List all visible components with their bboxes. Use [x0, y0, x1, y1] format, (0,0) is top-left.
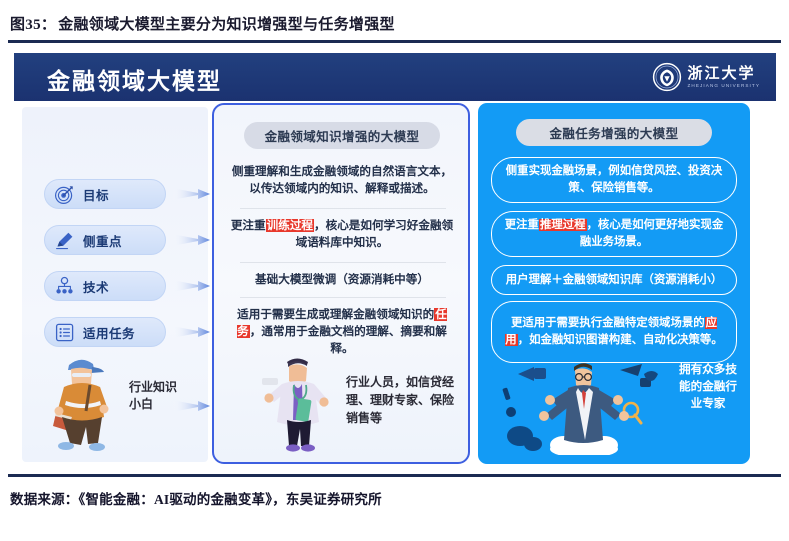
left-item-focus[interactable]: 侧重点 — [44, 225, 166, 255]
arrow-icon-2 — [172, 231, 212, 249]
figure-number: 图35： — [10, 13, 56, 34]
left-item-label: 适用任务 — [83, 323, 135, 342]
middle-block-text-post: ，核心是如何学习好金融领域语料库中知识。 — [296, 219, 454, 249]
zju-name-cn: 浙江大学 — [688, 66, 756, 81]
left-item-label: 技术 — [83, 277, 109, 296]
middle-highlight: 训练过程 — [266, 219, 314, 232]
middle-block-text: 更注重 — [231, 219, 266, 232]
middle-block-2: 更注重训练过程，核心是如何学习好金融领域语料库中知识。 — [228, 217, 456, 251]
middle-block-text-post: ，通常用于金融文档的理解、摘要和解释。 — [250, 325, 447, 355]
bottom-rule — [8, 474, 781, 477]
divider — [240, 297, 446, 298]
multi-arm-expert-illustration — [494, 350, 674, 455]
middle-block-4: 适用于需要生成或理解金融领域知识的任务，通常用于金融文档的理解、摘要和解释。 — [228, 306, 456, 357]
banner-title: 金融领域大模型 — [47, 62, 222, 96]
divider — [240, 262, 446, 263]
figure-caption: 图35： 金融领域大模型主要分为知识增强型与任务增强型 — [10, 8, 780, 38]
arrow-icon-3 — [172, 277, 212, 295]
right-block-1: 侧重实现金融场景，例如信贷风控、投资决策、保险销售等。 — [491, 157, 737, 203]
source-note: 数据来源：《智能金融：AI驱动的金融变革》，东吴证券研究所 — [10, 488, 780, 508]
right-block-text: 用户理解＋金融领域知识库（资源消耗小） — [506, 274, 722, 286]
right-block-text-post: ，如金融知识图谱构建、自动化决策等。 — [518, 334, 723, 346]
left-item-label: 目标 — [83, 185, 109, 204]
figure-caption-text: 金融领域大模型主要分为知识增强型与任务增强型 — [58, 13, 395, 34]
zju-wordmark: 浙江大学 ZHEJIANG UNIVERSITY — [688, 66, 760, 89]
right-block-3: 用户理解＋金融领域知识库（资源消耗小） — [491, 265, 737, 295]
figure-body: 目标 侧重点 — [14, 101, 776, 470]
checklist-icon — [54, 322, 75, 343]
figure-page: 图35： 金融领域大模型主要分为知识增强型与任务增强型 金融领域大模型 浙江 — [0, 0, 789, 518]
left-item-goal[interactable]: 目标 — [44, 179, 166, 209]
student-illustration — [42, 351, 122, 455]
zju-name-en: ZHEJIANG UNIVERSITY — [688, 84, 760, 89]
target-icon — [54, 184, 75, 205]
pencil-icon — [54, 230, 75, 251]
left-item-tasks[interactable]: 适用任务 — [44, 317, 166, 347]
right-column-title: 金融任务增强的大模型 — [516, 119, 712, 146]
figure-card: 金融领域大模型 浙江大学 ZHEJIANG UNIVERSITY — [14, 53, 776, 470]
middle-block-3: 基础大模型微调（资源消耗中等） — [228, 271, 456, 288]
figure-banner: 金融领域大模型 浙江大学 ZHEJIANG UNIVERSITY — [14, 53, 776, 101]
middle-persona-label: 行业人员，如信贷经理、理财专家、保险销售等 — [346, 373, 456, 427]
middle-column-title: 金融领域知识增强的大模型 — [244, 122, 440, 149]
right-column: 金融任务增强的大模型 侧重实现金融场景，例如信贷风控、投资决策、保险销售等。 更… — [478, 103, 750, 464]
right-persona-label: 拥有众多技能的金融行业专家 — [674, 361, 742, 412]
right-highlight: 推理过程 — [539, 219, 587, 231]
right-block-text: 更注重 — [505, 219, 539, 231]
right-block-text: 更适用于需要执行金融特定领域场景的 — [511, 317, 705, 329]
network-people-icon — [54, 276, 75, 297]
right-block-2: 更注重推理过程，核心是如何更好地实现金融业务场景。 — [491, 211, 737, 257]
right-block-text-post: ，核心是如何更好地实现金融业务场景。 — [580, 219, 723, 248]
right-block-text: 侧重实现金融场景，例如信贷风控、投资决策、保险销售等。 — [506, 165, 722, 194]
left-column: 目标 侧重点 — [22, 107, 208, 462]
middle-block-text: 基础大模型微调（资源消耗中等） — [255, 273, 429, 286]
middle-block-text: 侧重理解和生成金融领域的自然语言文本，以传达领域内的知识、解释或描述。 — [232, 165, 452, 195]
zju-logo: 浙江大学 ZHEJIANG UNIVERSITY — [652, 60, 760, 94]
professional-illustration — [260, 356, 338, 454]
divider — [240, 208, 446, 209]
middle-block-text: 适用于需要生成或理解金融领域知识的 — [237, 308, 434, 321]
left-item-label: 侧重点 — [83, 231, 122, 250]
middle-block-1: 侧重理解和生成金融领域的自然语言文本，以传达领域内的知识、解释或描述。 — [228, 163, 456, 197]
middle-column: 金融领域知识增强的大模型 侧重理解和生成金融领域的自然语言文本，以传达领域内的知… — [212, 103, 470, 464]
left-item-tech[interactable]: 技术 — [44, 271, 166, 301]
arrow-icon-5 — [172, 397, 212, 415]
arrow-icon-1 — [172, 185, 212, 203]
top-rule — [8, 40, 781, 43]
arrow-icon-4 — [172, 323, 212, 341]
zju-seal-icon — [652, 62, 682, 92]
